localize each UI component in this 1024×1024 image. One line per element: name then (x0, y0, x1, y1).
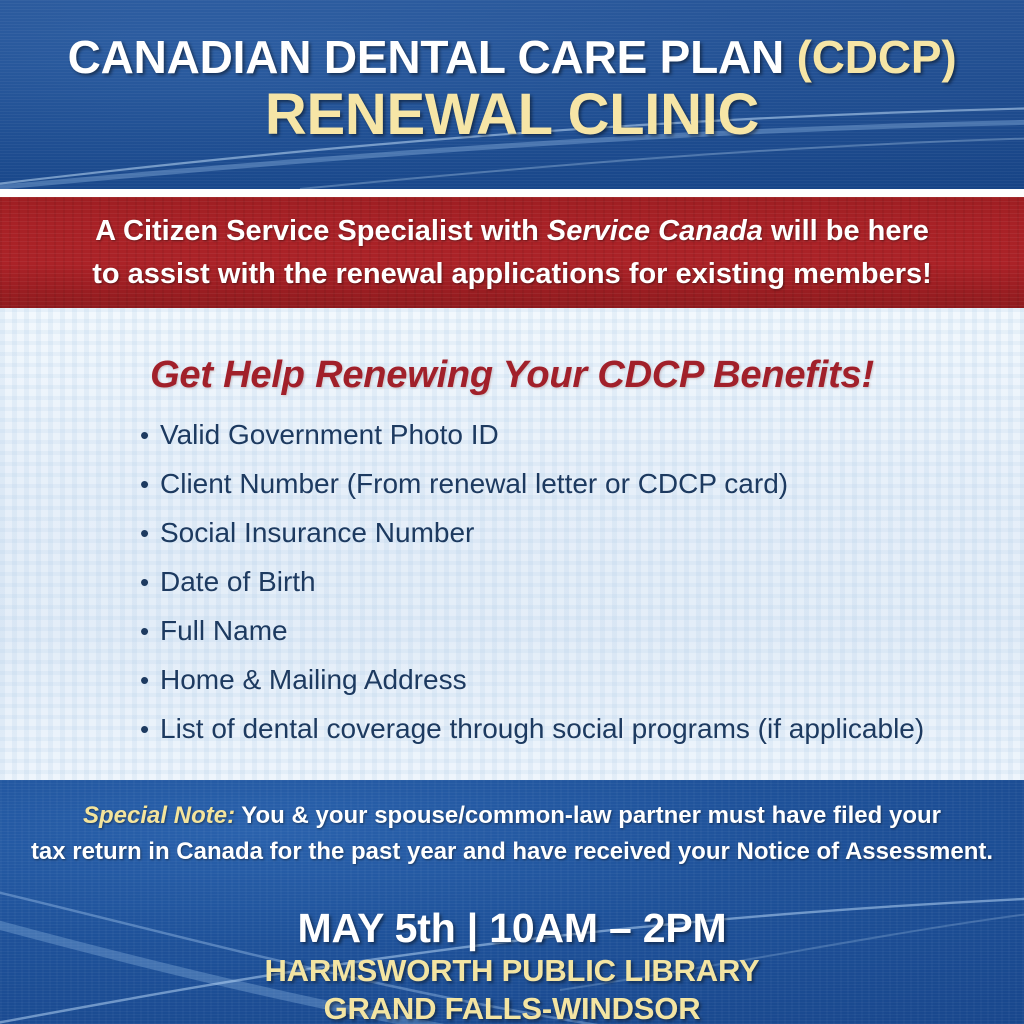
banner-text-c: will be here (763, 215, 929, 247)
event-venue: HARMSWORTH PUBLIC LIBRARY (265, 952, 760, 990)
poster-canvas: CANADIAN DENTAL CARE PLAN (CDCP) RENEWAL… (0, 0, 1024, 1024)
special-note-line-2: tax return in Canada for the past year a… (31, 834, 993, 870)
list-item-label: List of dental coverage through social p… (160, 715, 924, 743)
main-content-section: Get Help Renewing Your CDCP Benefits! •V… (0, 308, 1024, 780)
poster-title-line1: CANADIAN DENTAL CARE PLAN (CDCP) (68, 33, 957, 81)
special-note-block: Special Note: You & your spouse/common-l… (0, 798, 1024, 871)
bullet-icon: • (140, 716, 160, 742)
special-note-label: Special Note: (83, 802, 235, 829)
special-note-text-1: You & your spouse/common-law partner mus… (235, 802, 941, 829)
header-divider (0, 189, 1024, 197)
list-item-label: Social Insurance Number (160, 519, 474, 547)
bullet-icon: • (140, 569, 160, 595)
requirements-list: •Valid Government Photo ID •Client Numbe… (140, 421, 1000, 764)
banner-text-service-canada: Service Canada (547, 215, 763, 247)
event-datetime: MAY 5th | 10AM – 2PM (297, 906, 726, 952)
poster-title-line2: RENEWAL CLINIC (265, 85, 759, 146)
bullet-icon: • (140, 520, 160, 546)
list-item-label: Home & Mailing Address (160, 666, 467, 694)
list-item: •Full Name (140, 617, 1000, 645)
list-item-label: Client Number (From renewal letter or CD… (160, 470, 788, 498)
red-announcement-banner: A Citizen Service Specialist with Servic… (0, 197, 1024, 308)
header-title-group: CANADIAN DENTAL CARE PLAN (CDCP) RENEWAL… (0, 0, 1024, 189)
special-note-line-1: Special Note: You & your spouse/common-l… (83, 798, 941, 834)
bullet-icon: • (140, 471, 160, 497)
list-item: •Client Number (From renewal letter or C… (140, 470, 1000, 498)
bullet-icon: • (140, 667, 160, 693)
footer-event-section: Special Note: You & your spouse/common-l… (0, 780, 1024, 1024)
list-item: •Social Insurance Number (140, 519, 1000, 547)
event-details-block: MAY 5th | 10AM – 2PM HARMSWORTH PUBLIC L… (0, 906, 1024, 1024)
poster-title-acronym: (CDCP) (797, 31, 957, 83)
header-banner: CANADIAN DENTAL CARE PLAN (CDCP) RENEWAL… (0, 0, 1024, 189)
list-item-label: Date of Birth (160, 568, 316, 596)
list-item-label: Full Name (160, 617, 288, 645)
main-heading: Get Help Renewing Your CDCP Benefits! (0, 354, 1024, 397)
bullet-icon: • (140, 618, 160, 644)
banner-line-1: A Citizen Service Specialist with Servic… (95, 210, 929, 252)
poster-title-main: CANADIAN DENTAL CARE PLAN (68, 31, 797, 83)
list-item-label: Valid Government Photo ID (160, 421, 499, 449)
list-item: •Valid Government Photo ID (140, 421, 1000, 449)
event-city: GRAND FALLS-WINDSOR (324, 990, 701, 1024)
bullet-icon: • (140, 422, 160, 448)
banner-text-a: A Citizen Service Specialist with (95, 215, 547, 247)
banner-line-2: to assist with the renewal applications … (92, 253, 932, 295)
list-item: •Date of Birth (140, 568, 1000, 596)
list-item: •Home & Mailing Address (140, 666, 1000, 694)
list-item: •List of dental coverage through social … (140, 715, 1000, 743)
